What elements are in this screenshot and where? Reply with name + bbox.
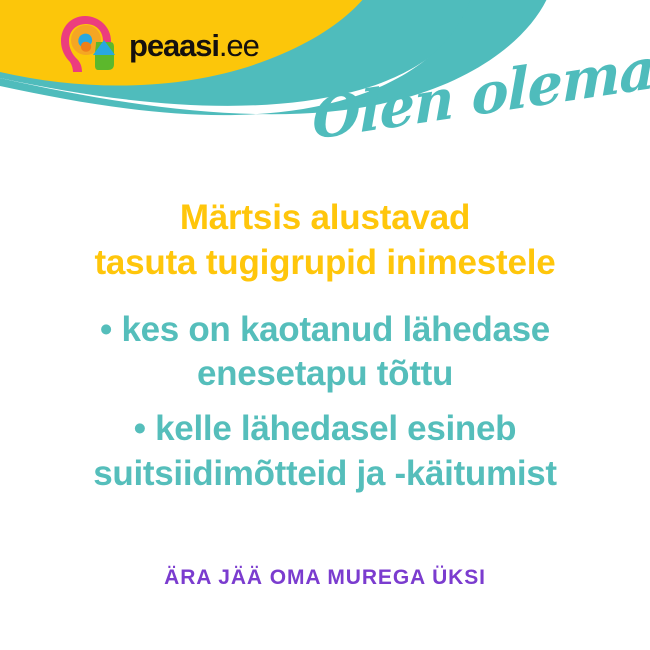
- wordmark-tld: .ee: [219, 28, 259, 63]
- list-item: • kes on kaotanud lähedase enesetapu tõt…: [18, 308, 632, 398]
- poster-content: Märtsis alustavad tasuta tugigrupid inim…: [0, 196, 650, 497]
- headline: Märtsis alustavad tasuta tugigrupid inim…: [0, 196, 650, 286]
- bullet-1-line-1: • kes on kaotanud lähedase: [18, 308, 632, 353]
- poster-canvas: peaasi.ee Olen olemas! Märtsis alustavad…: [0, 0, 650, 650]
- bullet-marker: •: [100, 310, 112, 349]
- brand-logo[interactable]: peaasi.ee: [58, 14, 259, 74]
- peaasi-head-icon: [58, 14, 120, 74]
- brand-wordmark: peaasi.ee: [129, 30, 259, 61]
- wordmark-main: peaasi: [129, 28, 219, 63]
- target-group-list: • kes on kaotanud lähedase enesetapu tõt…: [0, 308, 650, 497]
- headline-line-1: Märtsis alustavad: [24, 196, 626, 241]
- bullet-1-line-2: enesetapu tõttu: [18, 352, 632, 397]
- headline-line-2: tasuta tugigrupid inimestele: [24, 241, 626, 286]
- bullet-marker: •: [134, 409, 146, 448]
- bullet-2-text-1: kelle lähedasel esineb: [155, 409, 516, 448]
- bullet-1-text-1: kes on kaotanud lähedase: [121, 310, 550, 349]
- script-headline: Olen olemas!: [312, 30, 650, 158]
- script-headline-text: Olen olemas!: [312, 28, 650, 153]
- footer-slogan: ÄRA JÄÄ OMA MUREGA ÜKSI: [0, 566, 650, 590]
- bullet-2-line-1: • kelle lähedasel esineb: [18, 407, 632, 452]
- bullet-2-line-2: suitsiidimõtteid ja -käitumist: [18, 452, 632, 497]
- list-item: • kelle lähedasel esineb suitsiidimõttei…: [18, 407, 632, 497]
